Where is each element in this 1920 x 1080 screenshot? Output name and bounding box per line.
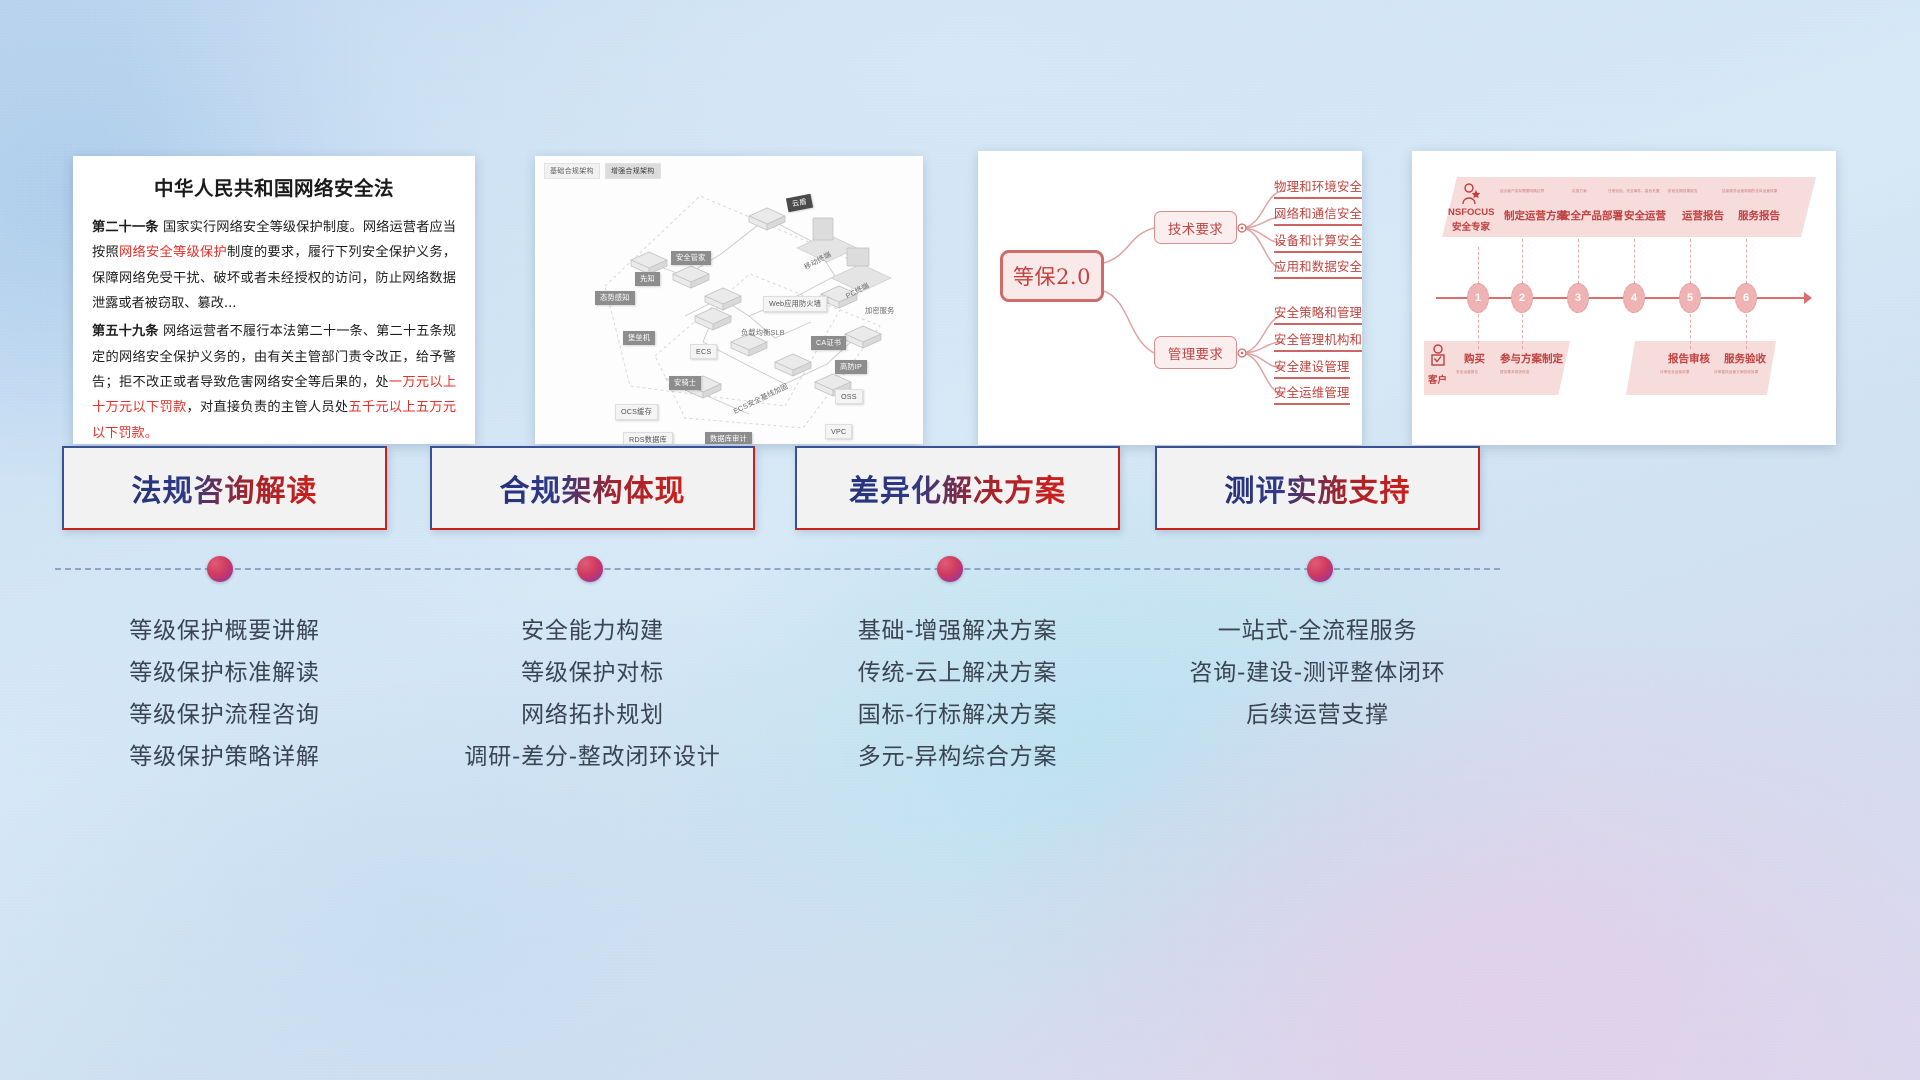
banner-label-3: 差异化解决方案 — [849, 466, 1066, 510]
timeline-top-title-1: 制定运营方案 — [1504, 208, 1567, 223]
architecture-node-ocs-cache: OCS缓存 — [615, 404, 658, 420]
architecture-node-ca: CA证书 — [811, 336, 846, 350]
timeline-bottom-right-band — [1626, 341, 1776, 395]
timeline-bottom-sub-1: 安全运营报告 — [1456, 370, 1478, 375]
mindmap-leaf-mgmt-2: 安全管理机构和人员 — [1274, 330, 1362, 352]
timeline-top-title-4: 运营报告 — [1682, 208, 1724, 223]
law-article-21-label: 第二十一条 — [92, 220, 159, 235]
list-item: 调研-差分-整改闭环设计 — [430, 736, 755, 778]
architecture-node-encryption: 加密服务 — [865, 306, 895, 316]
banner-compliance-architecture[interactable]: 合规架构体现 — [430, 446, 755, 530]
list-item: 等级保护流程咨询 — [62, 694, 387, 736]
cards-row: 中华人民共和国网络安全法 第二十一条 国家实行网络安全等级保护制度。网络运营者应… — [0, 148, 1920, 448]
mindmap-leaf-mgmt-4: 安全运维管理 — [1274, 383, 1350, 405]
list-item: 等级保护标准解读 — [62, 652, 387, 694]
timeline-leader-6 — [1746, 239, 1747, 289]
timeline-node-2: 2 — [1511, 283, 1533, 313]
architecture-node-waf: Web应用防火墙 — [763, 296, 827, 312]
banner-label-1: 法规咨询解读 — [132, 466, 318, 510]
timeline-customer-label: 客户 — [1428, 372, 1447, 386]
timeline-dot-3 — [937, 556, 963, 582]
architecture-canvas: 基础合规架构 增强合规架构 — [535, 156, 923, 444]
card-law-text: 中华人民共和国网络安全法 第二十一条 国家实行网络安全等级保护制度。网络运营者应… — [73, 156, 475, 444]
timeline-dot-2 — [577, 556, 603, 582]
customer-icon — [1428, 344, 1448, 370]
mindmap-leaf-tech-4: 应用和数据安全 — [1274, 257, 1362, 279]
mindmap-leaf-mgmt-1: 安全策略和管理制度 — [1274, 303, 1362, 325]
service-timeline-canvas: NSFOCUS 安全专家 客户 结合客户实际需要明确边界 制定运营方案 实施方案… — [1412, 151, 1836, 445]
law-title: 中华人民共和国网络安全法 — [92, 172, 456, 201]
timeline-top-band — [1442, 177, 1816, 237]
mindmap-leaf-mgmt-3: 安全建设管理 — [1274, 357, 1350, 379]
timeline-leader-5 — [1690, 239, 1691, 289]
law-article-59-label: 第五十九条 — [92, 324, 159, 339]
timeline-bottom-title-2: 参与方案制定 — [1500, 351, 1563, 366]
timeline-leader-2 — [1522, 239, 1523, 289]
timeline-node-1: 1 — [1467, 283, 1489, 313]
timeline-leader-4 — [1634, 239, 1635, 289]
mindmap-leaf-tech-1: 物理和环境安全 — [1274, 177, 1362, 199]
list-item: 等级保护策略详解 — [62, 736, 387, 778]
column-list-3: 基础-增强解决方案 传统-云上解决方案 国标-行标解决方案 多元-异构综合方案 — [795, 610, 1120, 778]
column-list-2: 安全能力构建 等级保护对标 网络拓扑规划 调研-差分-整改闭环设计 — [430, 610, 755, 778]
card-mindmap: 等保2.0 技术要求 管理要求 物理和环境安全 网络和通信安全 设备和计算安全 … — [978, 151, 1362, 445]
timeline-leader-b1 — [1478, 309, 1479, 349]
timeline-bottom-sub-4: 评审整改运营方案验收效果 — [1714, 370, 1758, 375]
list-item: 等级保护概要讲解 — [62, 610, 387, 652]
architecture-node-vpc: VPC — [825, 424, 852, 439]
timeline-top-sub-4: 阶段定期效果报告 — [1668, 189, 1698, 194]
timeline-expert-label-2: 安全专家 — [1452, 219, 1490, 233]
architecture-node-slb: 负载均衡SLB — [741, 328, 785, 338]
banner-label-4: 测评实施支持 — [1225, 466, 1411, 510]
timeline-expert-label-1: NSFOCUS — [1448, 207, 1494, 218]
list-item: 基础-增强解决方案 — [795, 610, 1120, 652]
timeline-node-3: 3 — [1567, 283, 1589, 313]
list-item: 多元-异构综合方案 — [795, 736, 1120, 778]
banner-regulation-consulting[interactable]: 法规咨询解读 — [62, 446, 387, 530]
timeline-bottom-title-4: 服务验收 — [1724, 351, 1766, 366]
list-item: 等级保护对标 — [430, 652, 755, 694]
timeline-node-4: 4 — [1623, 283, 1645, 313]
timeline-leader-b3 — [1690, 309, 1691, 349]
timeline-top-sub-3: 日常巡检、安全事件、高危处置 — [1608, 189, 1660, 194]
mindmap-leaf-tech-3: 设备和计算安全 — [1274, 231, 1362, 253]
timeline-leader-b4 — [1746, 309, 1747, 349]
architecture-node-gaofang-ip: 高防IP — [835, 360, 867, 374]
timeline-dot-4 — [1307, 556, 1333, 582]
timeline-dashed-line — [55, 568, 1500, 570]
timeline-bottom-title-1: 购买 — [1464, 351, 1485, 366]
mindmap-branch-technical: 技术要求 — [1154, 211, 1237, 244]
list-item: 国标-行标解决方案 — [795, 694, 1120, 736]
banner-label-2: 合规架构体现 — [500, 466, 686, 510]
timeline-top-title-2: 安全产品部署 — [1560, 208, 1623, 223]
architecture-node-rds: RDS数据库 — [623, 432, 673, 444]
timeline-top-sub-2: 实施方案 — [1572, 189, 1587, 194]
list-item: 传统-云上解决方案 — [795, 652, 1120, 694]
law-article-21: 第二十一条 国家实行网络安全等级保护制度。网络运营者应当按照网络安全等级保护制度… — [92, 215, 456, 316]
mindmap-canvas: 等保2.0 技术要求 管理要求 物理和环境安全 网络和通信安全 设备和计算安全 … — [978, 151, 1362, 445]
timeline-axis-arrow — [1804, 292, 1812, 304]
architecture-node-taishiganzhi: 态势感知 — [595, 291, 635, 305]
mindmap-root-node: 等保2.0 — [1000, 250, 1104, 302]
timeline-leader-3 — [1578, 239, 1579, 289]
column-list-1: 等级保护概要讲解 等级保护标准解读 等级保护流程咨询 等级保护策略详解 — [62, 610, 387, 778]
timeline-top-title-5: 服务报告 — [1738, 208, 1780, 223]
timeline-bottom-sub-3: 评审安全运营效果 — [1660, 370, 1690, 375]
law-body: 中华人民共和国网络安全法 第二十一条 国家实行网络安全等级保护制度。网络运营者应… — [73, 156, 475, 444]
list-item: 安全能力构建 — [430, 610, 755, 652]
architecture-node-ecs: ECS — [690, 344, 717, 359]
mindmap-branch-management: 管理要求 — [1154, 336, 1237, 369]
banner-assessment-support[interactable]: 测评实施支持 — [1155, 446, 1480, 530]
card-service-timeline: NSFOCUS 安全专家 客户 结合客户实际需要明确边界 制定运营方案 实施方案… — [1412, 151, 1836, 445]
architecture-node-oss: OSS — [835, 389, 863, 404]
law-article-59-text-b: ，对直接负责的主管人员处 — [186, 400, 348, 415]
mindmap-leaf-tech-2: 网络和通信安全 — [1274, 204, 1362, 226]
timeline-node-6: 6 — [1735, 283, 1757, 313]
timeline-dot-1 — [207, 556, 233, 582]
column-list-4: 一站式-全流程服务 咨询-建设-测评整体闭环 后续运营支撑 — [1145, 610, 1490, 736]
security-expert-icon — [1460, 183, 1484, 205]
architecture-node-anquanguanjia: 安全管家 — [671, 251, 711, 265]
timeline-top-sub-1: 结合客户实际需要明确边界 — [1500, 189, 1544, 194]
architecture-connectors — [535, 156, 923, 444]
timeline-leader-b2 — [1522, 309, 1523, 349]
architecture-node-xianzhi: 先知 — [635, 272, 660, 286]
law-article-21-highlight: 网络安全等级保护 — [119, 245, 227, 260]
timeline-top-sub-5: 结束服务运营周期的总体运营效果 — [1722, 189, 1777, 194]
list-item: 咨询-建设-测评整体闭环 — [1145, 652, 1490, 694]
timeline-bottom-sub-2: 提供基本现状信息 — [1500, 370, 1530, 375]
banner-differentiated-solution[interactable]: 差异化解决方案 — [795, 446, 1120, 530]
timeline-top-title-3: 安全运营 — [1624, 208, 1666, 223]
list-item: 后续运营支撑 — [1145, 694, 1490, 736]
timeline-node-5: 5 — [1679, 283, 1701, 313]
architecture-node-anqishi: 安骑士 — [669, 376, 701, 390]
list-item: 网络拓扑规划 — [430, 694, 755, 736]
architecture-node-baoleiji: 堡垒机 — [623, 331, 655, 345]
card-architecture-diagram: 基础合规架构 增强合规架构 — [535, 156, 923, 444]
law-article-59: 第五十九条 网络运营者不履行本法第二十一条、第二十五条规定的网络安全保护义务的，… — [92, 319, 456, 444]
timeline-bottom-title-3: 报告审核 — [1668, 351, 1710, 366]
architecture-node-db-audit: 数据库审计 — [705, 432, 752, 444]
list-item: 一站式-全流程服务 — [1145, 610, 1490, 652]
